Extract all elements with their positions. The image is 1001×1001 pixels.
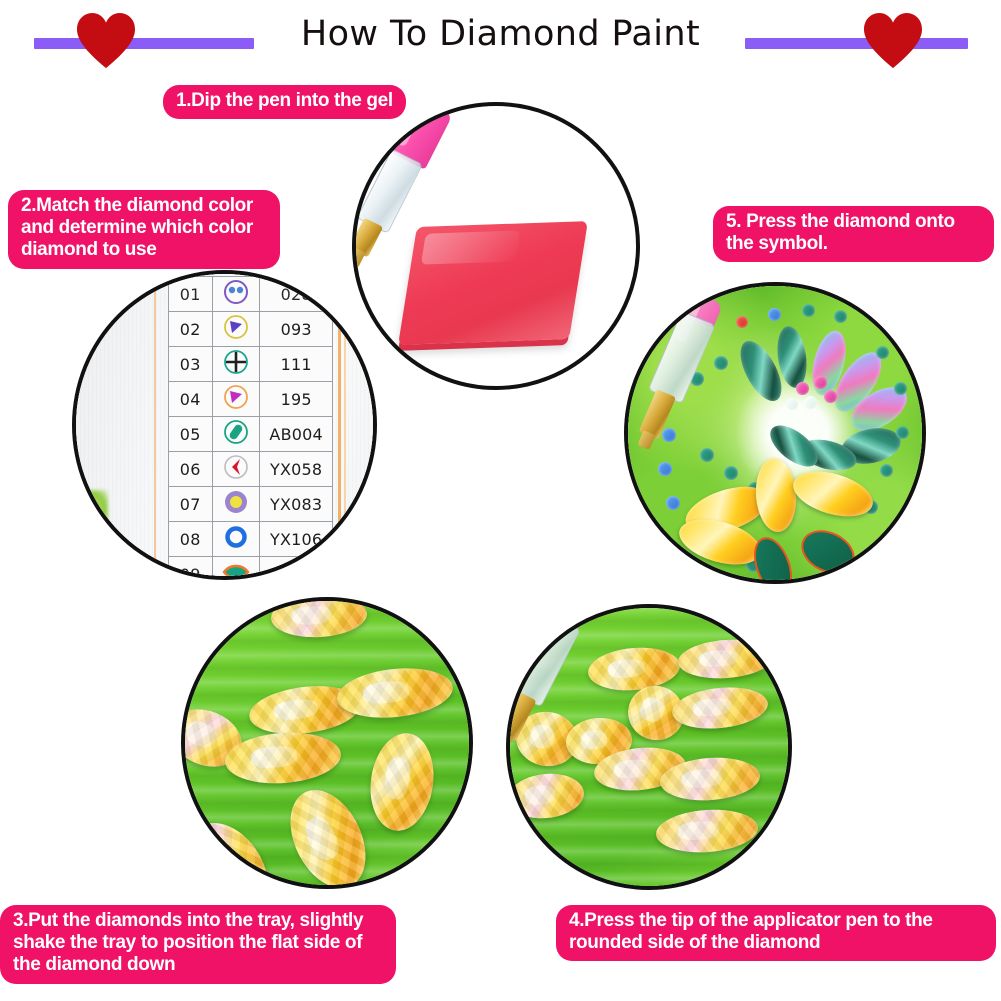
gem-dot <box>894 382 907 395</box>
sheet-margin-line-left <box>154 274 156 576</box>
sheet-margin-line-right2 <box>344 274 346 576</box>
color-code-row: 08YX106 <box>169 522 333 557</box>
color-code-number: 06 <box>169 452 213 487</box>
color-code-row: 04195 <box>169 382 333 417</box>
diamond-tray <box>185 601 469 885</box>
canvas-green-smudge <box>74 490 108 530</box>
color-code-value: YX083 <box>260 487 333 522</box>
diamond-gem <box>364 729 439 835</box>
step-3-label: 3.Put the diamonds into the tray, slight… <box>0 905 396 984</box>
triangle-flag-icon <box>212 382 260 417</box>
sheet-margin-line-right <box>338 274 341 576</box>
triangle-flag-icon <box>212 312 260 347</box>
diamond-gem <box>223 729 342 787</box>
diamond-gem <box>270 597 368 639</box>
color-code-number: 01 <box>169 277 213 312</box>
open-ring-icon <box>212 522 260 557</box>
color-code-value: AB004 <box>260 417 333 452</box>
gem-dot <box>834 310 847 323</box>
mandala-canvas-scene <box>628 286 922 580</box>
pen-ferrule <box>506 691 536 742</box>
pen-gel-scene <box>356 106 636 386</box>
color-code-table: 0102802093031110419505AB00406YX05807YX08… <box>168 276 333 580</box>
diamond-gem <box>677 637 775 682</box>
color-code-number: 05 <box>169 417 213 452</box>
gem-dot <box>796 382 809 395</box>
left-chevron-icon <box>212 452 260 487</box>
diagonal-capsule-icon <box>212 417 260 452</box>
step-5-label: 5. Press the diamond onto the symbol. <box>713 206 994 262</box>
color-code-row: 01028 <box>169 277 333 312</box>
color-code-row: 09YX125 <box>169 557 333 581</box>
color-code-value: 028 <box>260 277 333 312</box>
color-code-value: 111 <box>260 347 333 382</box>
color-code-number: 09 <box>169 557 213 581</box>
gem-dot <box>724 466 738 480</box>
diamond-gem <box>659 755 762 804</box>
color-code-row: 05AB004 <box>169 417 333 452</box>
step-5-photo <box>624 282 926 584</box>
page-title: How To Diamond Paint <box>0 14 1001 54</box>
pen-tip <box>637 430 655 450</box>
color-code-value: YX125 <box>260 557 333 581</box>
gem-dot <box>786 398 798 410</box>
color-code-row: 07YX083 <box>169 487 333 522</box>
gem-dot <box>802 304 815 317</box>
diamond-gem <box>181 808 285 889</box>
color-code-row: 02093 <box>169 312 333 347</box>
diamond-gem <box>670 683 770 733</box>
step-4-label: 4.Press the tip of the applicator pen to… <box>556 905 996 961</box>
gem-dot <box>768 308 781 321</box>
gem-dot <box>804 396 817 409</box>
color-code-value: YX058 <box>260 452 333 487</box>
diamond-gem <box>276 778 381 889</box>
diamond-gem <box>655 806 760 855</box>
step-1-label: 1.Dip the pen into the gel <box>163 85 406 119</box>
color-code-number: 04 <box>169 382 213 417</box>
color-chart-sheet: 0102802093031110419505AB00406YX05807YX08… <box>76 274 373 576</box>
gem-dot <box>880 464 893 477</box>
diamond-tray <box>510 608 788 886</box>
color-code-number: 02 <box>169 312 213 347</box>
gem-dot <box>824 390 837 403</box>
color-code-number: 07 <box>169 487 213 522</box>
leaf-icon <box>212 557 260 581</box>
color-code-number: 08 <box>169 522 213 557</box>
step-4-photo <box>506 604 792 890</box>
color-code-value: 195 <box>260 382 333 417</box>
step-1-photo <box>352 102 640 390</box>
color-code-row: 03111 <box>169 347 333 382</box>
plus-cross-icon <box>212 347 260 382</box>
color-code-value: 093 <box>260 312 333 347</box>
diamond-gem <box>335 663 455 723</box>
double-dot-circle-icon <box>212 277 260 312</box>
step-3-photo <box>181 597 473 889</box>
color-code-value: YX106 <box>260 522 333 557</box>
color-code-row: 06YX058 <box>169 452 333 487</box>
gem-dot <box>896 426 909 439</box>
page-header: How To Diamond Paint <box>0 0 1001 78</box>
gem-dot <box>876 346 889 359</box>
step-2-label: 2.Match the diamond color and determine … <box>8 190 280 269</box>
color-code-number: 03 <box>169 347 213 382</box>
dot-in-ring-icon <box>212 487 260 522</box>
gem-dot <box>814 376 827 389</box>
step-2-photo: 0102802093031110419505AB00406YX05807YX08… <box>72 270 377 580</box>
